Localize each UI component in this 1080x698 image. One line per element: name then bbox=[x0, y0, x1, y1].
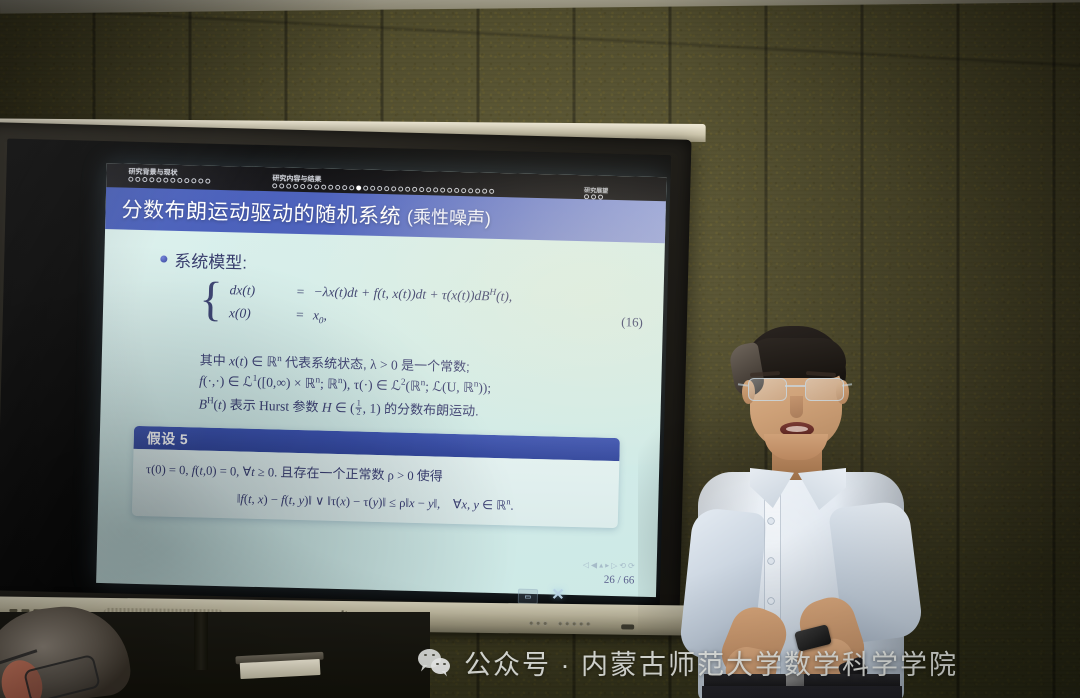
assumption-body: τ(0) = 0, f(t,0) = 0, ∀t ≥ 0. 且存在一个正常数 ρ… bbox=[132, 449, 620, 528]
assumption-line-2: ‖f(t, x) − f(t, y)‖ ∨ ‖τ(x) − τ(y)‖ ≤ ρ‖… bbox=[145, 487, 605, 516]
bullet-label: 系统模型: bbox=[174, 247, 247, 274]
screenshot-stage: 研究背景与现状 研究内容与结果 研究展望 分数布朗运动驱动的随机系统 (乘性噪声… bbox=[0, 0, 1080, 698]
assumption-line-1: τ(0) = 0, f(t,0) = 0, ∀t ≥ 0. 且存在一个正常数 ρ… bbox=[146, 458, 606, 489]
presenter bbox=[668, 322, 968, 698]
display-stand-pole bbox=[194, 612, 208, 670]
equation-block: { dx(t)= −λx(t)dt + f(t, x(t))dt + τ(x(t… bbox=[200, 279, 630, 290]
shirt-button bbox=[768, 598, 774, 604]
slide-note-line-2: f(·,·) ∈ ℒ1([0,∞) × ℝn; ℝn), τ(·) ∈ ℒ2(ℝ… bbox=[199, 371, 491, 396]
shirt-button bbox=[768, 558, 774, 564]
slide-note-line-1: 其中 x(t) ∈ ℝn 代表系统状态, λ > 0 是一个常数; bbox=[200, 349, 470, 375]
book-pages bbox=[240, 659, 321, 679]
glasses-lens-right bbox=[805, 378, 844, 401]
bullet-system-model: 系统模型: bbox=[160, 246, 247, 273]
presenter-trousers bbox=[702, 686, 902, 698]
book-on-desk bbox=[235, 652, 324, 683]
presentation-slide: 研究背景与现状 研究内容与结果 研究展望 分数布朗运动驱动的随机系统 (乘性噪声… bbox=[96, 163, 666, 597]
interactive-display: 研究背景与现状 研究内容与结果 研究展望 分数布朗运动驱动的随机系统 (乘性噪声… bbox=[0, 112, 702, 650]
equation-brace: { bbox=[199, 277, 223, 322]
glasses-lens-left bbox=[748, 378, 787, 401]
audience-member bbox=[0, 608, 148, 698]
glasses-bridge bbox=[785, 385, 805, 387]
watermark: 公众号 · 内蒙古师范大学数学科学学院 bbox=[418, 643, 958, 682]
presenter-nose bbox=[790, 396, 803, 418]
slide-note-line-3: BH(t) 表示 Hurst 参数 H ∈ (12, 1) 的分数布朗运动. bbox=[198, 393, 479, 421]
slide-title-main: 分数布朗运动驱动的随机系统 bbox=[121, 193, 401, 230]
display-screen[interactable]: 研究背景与现状 研究内容与结果 研究展望 分数布朗运动驱动的随机系统 (乘性噪声… bbox=[0, 139, 671, 608]
shirt-button bbox=[768, 518, 774, 524]
nav-dots-background[interactable] bbox=[128, 177, 210, 184]
assumption-box: 假设 5 τ(0) = 0, f(t,0) = 0, ∀t ≥ 0. 且存在一个… bbox=[132, 426, 620, 528]
slide-body: 系统模型: { dx(t)= −λx(t)dt + f(t, x(t))dt +… bbox=[96, 229, 665, 597]
bullet-dot-icon bbox=[160, 255, 167, 262]
equation-number: (16) bbox=[621, 314, 643, 331]
equation-rows: dx(t)= −λx(t)dt + f(t, x(t))dt + τ(x(t))… bbox=[229, 280, 513, 329]
display-bezel: 研究背景与现状 研究内容与结果 研究展望 分数布朗运动驱动的随机系统 (乘性噪声… bbox=[0, 122, 692, 626]
equation-row-2: x(0)= x0, bbox=[229, 305, 512, 330]
display-ir-receiver bbox=[621, 624, 634, 629]
watermark-text: 公众号 · 内蒙古师范大学数学科学学院 bbox=[464, 643, 958, 682]
equation-row-1: dx(t)= −λx(t)dt + f(t, x(t))dt + τ(x(t))… bbox=[229, 280, 512, 305]
screenshot-button[interactable]: ▭ bbox=[518, 589, 538, 605]
slide-title-sub: (乘性噪声) bbox=[407, 203, 492, 231]
slide-page-number: 26 / 66 bbox=[604, 574, 635, 587]
presenter-teeth bbox=[786, 426, 808, 432]
wechat-icon bbox=[418, 649, 452, 677]
close-icon[interactable]: ✕ bbox=[548, 584, 568, 604]
beamer-navigation-icons[interactable]: ◁ ◀ ▴ ▸ ▷ ⟲ ⟳ bbox=[583, 560, 635, 570]
display-control-buttons[interactable] bbox=[529, 621, 590, 626]
